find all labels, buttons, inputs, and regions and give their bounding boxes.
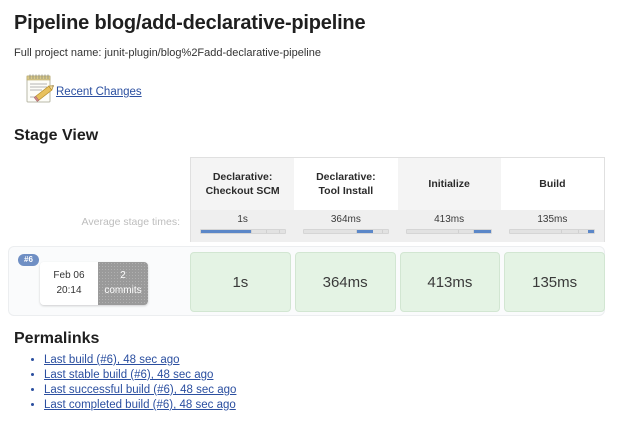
average-bar-1 bbox=[303, 229, 389, 234]
permalink-last-completed-build[interactable]: Last completed build (#6), 48 sec ago bbox=[44, 399, 236, 411]
build-stage-cells: 1s 364ms 413ms 135ms bbox=[190, 252, 605, 312]
permalink-last-stable-build[interactable]: Last stable build (#6), 48 sec ago bbox=[44, 369, 213, 381]
stage-header-1-line1: Declarative: bbox=[316, 171, 376, 183]
average-bar-0 bbox=[200, 229, 286, 234]
stage-cell-1[interactable]: 364ms bbox=[295, 252, 396, 312]
stage-header-0-line2: Checkout SCM bbox=[206, 185, 280, 197]
build-time: 20:14 bbox=[40, 283, 98, 298]
permalink-last-successful-build[interactable]: Last successful build (#6), 48 sec ago bbox=[44, 384, 236, 396]
list-item: Last completed build (#6), 48 sec ago bbox=[44, 399, 640, 411]
stage-header-2[interactable]: Initialize bbox=[398, 158, 501, 210]
full-project-name: Full project name: junit-plugin/blog%2Fa… bbox=[0, 35, 640, 59]
stage-header-0[interactable]: Declarative: Checkout SCM bbox=[191, 158, 294, 210]
average-value-1: 364ms bbox=[331, 213, 361, 226]
permalinks-heading: Permalinks bbox=[0, 312, 640, 348]
average-bar-3 bbox=[509, 229, 595, 234]
stage-cell-0[interactable]: 1s bbox=[190, 252, 291, 312]
stage-header-3[interactable]: Build bbox=[501, 158, 604, 210]
stage-view-table: Declarative: Checkout SCM Declarative: T… bbox=[0, 157, 640, 312]
commits-count: 2 bbox=[98, 268, 148, 283]
stage-header-2-line1: Initialize bbox=[428, 177, 469, 191]
permalink-last-build[interactable]: Last build (#6), 48 sec ago bbox=[44, 354, 180, 366]
average-cell-1: 364ms bbox=[294, 210, 397, 242]
average-stage-times-row: Average stage times: 1s 364ms bbox=[0, 210, 640, 242]
stage-header-0-line1: Declarative: bbox=[213, 171, 273, 183]
stage-cell-2[interactable]: 413ms bbox=[400, 252, 501, 312]
average-cell-0: 1s bbox=[191, 210, 294, 242]
list-item: Last build (#6), 48 sec ago bbox=[44, 354, 640, 366]
build-date-box: Feb 06 20:14 bbox=[40, 262, 98, 305]
stage-header-spacer bbox=[0, 157, 190, 210]
build-meta-box[interactable]: Feb 06 20:14 2 commits bbox=[40, 262, 148, 305]
list-item: Last stable build (#6), 48 sec ago bbox=[44, 369, 640, 381]
stage-header-row: Declarative: Checkout SCM Declarative: T… bbox=[0, 157, 640, 210]
build-number-badge[interactable]: #6 bbox=[18, 254, 39, 266]
stage-header-cells: Declarative: Checkout SCM Declarative: T… bbox=[190, 157, 605, 210]
recent-changes-link[interactable]: Recent Changes bbox=[56, 86, 142, 98]
build-run-meta: #6 Feb 06 20:14 2 commits bbox=[0, 252, 190, 312]
average-cells: 1s 364ms bbox=[190, 210, 605, 242]
permalinks-list: Last build (#6), 48 sec ago Last stable … bbox=[0, 354, 640, 411]
average-value-3: 135ms bbox=[537, 213, 567, 226]
average-cell-2: 413ms bbox=[398, 210, 501, 242]
stage-view-heading: Stage View bbox=[0, 107, 640, 145]
notepad-pencil-icon bbox=[22, 69, 60, 107]
recent-changes[interactable]: Recent Changes bbox=[0, 59, 640, 107]
average-value-0: 1s bbox=[237, 213, 248, 226]
stage-header-1-line2: Tool Install bbox=[319, 185, 374, 197]
average-bar-2 bbox=[406, 229, 492, 234]
stage-header-3-line1: Build bbox=[539, 177, 565, 191]
build-run-row: #6 Feb 06 20:14 2 commits 1s 364ms 413ms… bbox=[0, 246, 640, 312]
average-stage-times-label: Average stage times: bbox=[0, 210, 190, 242]
list-item: Last successful build (#6), 48 sec ago bbox=[44, 384, 640, 396]
average-value-2: 413ms bbox=[434, 213, 464, 226]
build-commits-box[interactable]: 2 commits bbox=[98, 262, 148, 305]
stage-header-1[interactable]: Declarative: Tool Install bbox=[294, 158, 397, 210]
average-cell-3: 135ms bbox=[501, 210, 604, 242]
build-date: Feb 06 bbox=[40, 268, 98, 283]
page-title: Pipeline blog/add-declarative-pipeline bbox=[0, 0, 640, 35]
stage-cell-3[interactable]: 135ms bbox=[504, 252, 605, 312]
commits-label: commits bbox=[98, 283, 148, 298]
